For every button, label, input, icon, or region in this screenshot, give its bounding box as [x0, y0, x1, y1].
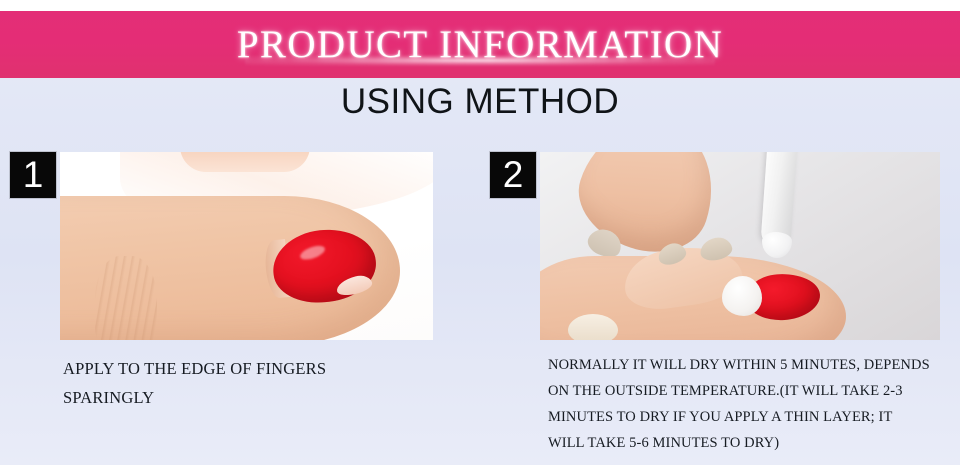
- product-information-banner: PRODUCT INFORMATION: [0, 11, 960, 78]
- photo-2-bottom-nail: [568, 314, 618, 340]
- step-2-badge: 2: [490, 152, 536, 198]
- photo-1-nail-highlight: [298, 243, 326, 262]
- step-2-caption-line-2: ON THE OUTSIDE TEMPERATURE.(IT WILL TAKE…: [548, 378, 952, 404]
- step-1-photo: [60, 152, 433, 340]
- product-information-page: PRODUCT INFORMATION USING METHOD 1 APPLY…: [0, 0, 960, 465]
- photo-1-background-skin: [180, 152, 310, 172]
- step-1-caption-line-2: SPARINGLY: [63, 383, 483, 412]
- step-2-caption-line-1: NORMALLY IT WILL DRY WITHIN 5 MINUTES, D…: [548, 352, 952, 378]
- step-1-caption-line-1: APPLY TO THE EDGE OF FINGERS: [63, 354, 483, 383]
- photo-1-knuckle-creases: [95, 256, 157, 340]
- banner-title: PRODUCT INFORMATION: [0, 11, 960, 78]
- section-title-using-method: USING METHOD: [0, 82, 960, 122]
- top-white-strip: [0, 0, 960, 11]
- photo-2-white-cream-blob: [722, 276, 762, 316]
- step-2-caption-line-4: WILL TAKE 5-6 MINUTES TO DRY): [548, 430, 952, 456]
- step-2-caption-line-3: MINUTES TO DRY IF YOU APPLY A THIN LAYER…: [548, 404, 952, 430]
- step-2-caption: NORMALLY IT WILL DRY WITHIN 5 MINUTES, D…: [548, 352, 952, 456]
- step-1-caption: APPLY TO THE EDGE OF FINGERS SPARINGLY: [63, 354, 483, 412]
- step-1-badge: 1: [10, 152, 56, 198]
- step-2-photo: [540, 152, 940, 340]
